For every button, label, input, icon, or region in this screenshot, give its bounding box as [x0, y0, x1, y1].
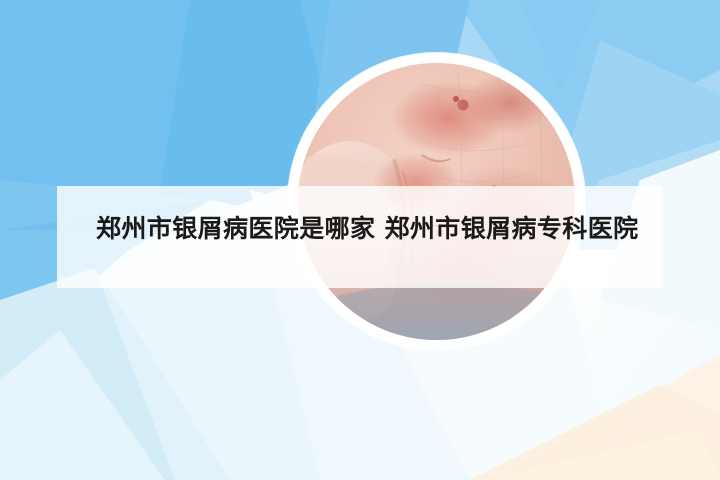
article-banner-image: 郑州市银屑病医院是哪家 郑州市银屑病专科医院 [0, 0, 720, 480]
banner-caption-text: 郑州市银屑病医院是哪家 郑州市银屑病专科医院 [96, 212, 656, 245]
